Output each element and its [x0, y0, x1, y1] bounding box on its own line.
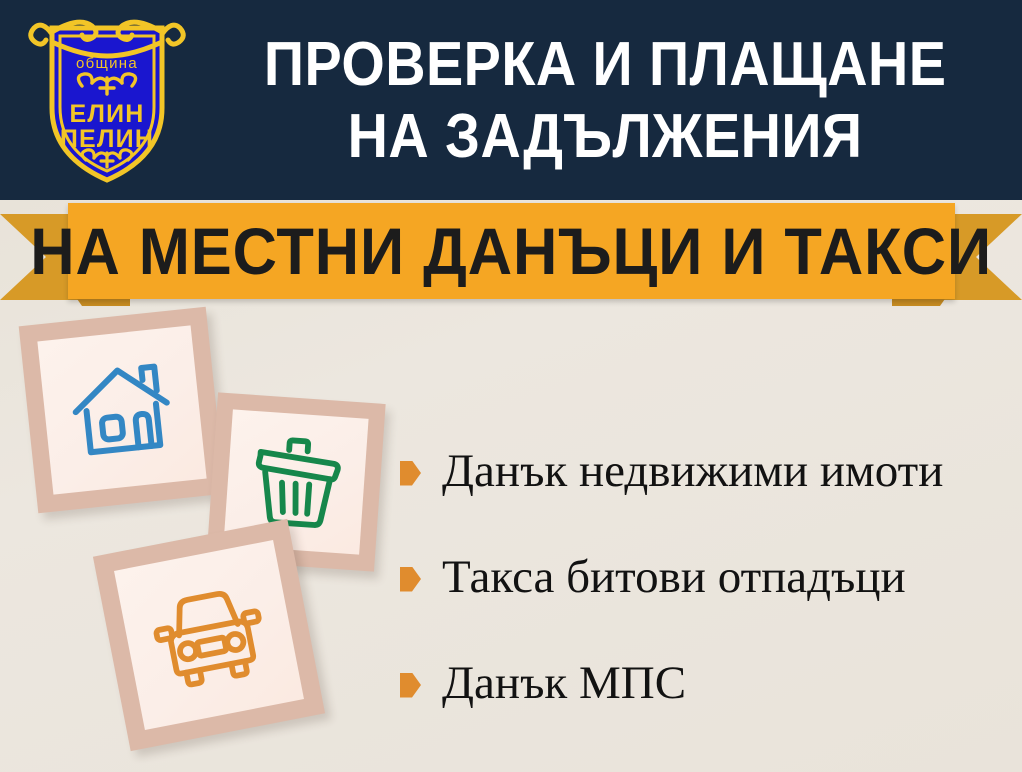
page-title-line-1: ПРОВЕРКА И ПЛАЩАНЕ: [264, 30, 947, 100]
arrow-bullet-icon: [400, 461, 421, 486]
stamp-card-house: [19, 307, 226, 514]
service-item-vehicle-tax[interactable]: Данък МПС: [400, 630, 1012, 736]
svg-text:ПЕЛИН: ПЕЛИН: [60, 125, 154, 153]
arrow-bullet-icon: [400, 673, 421, 698]
house-icon: [19, 307, 226, 514]
stamp-card-car: [93, 519, 325, 751]
service-item-property-tax[interactable]: Данък недвижими имоти: [400, 418, 1012, 524]
page-title-line-2: НА ЗАДЪЛЖЕНИЯ: [348, 102, 863, 172]
stamp-card-group: [0, 300, 400, 772]
service-item-label: Такса битови отпадъци: [442, 551, 906, 603]
ribbon-band: НА МЕСТНИ ДАНЪЦИ И ТАКСИ: [68, 203, 955, 299]
ribbon-label: НА МЕСТНИ ДАНЪЦИ И ТАКСИ: [31, 218, 993, 284]
service-item-waste-fee[interactable]: Такса битови отпадъци: [400, 524, 1012, 630]
service-item-label: Данък недвижими имоти: [442, 445, 943, 497]
svg-text:община: община: [76, 55, 138, 72]
svg-text:ЕЛИН: ЕЛИН: [69, 100, 144, 128]
poster-canvas: община ЕЛИН ПЕЛИН ПРОВЕРКА И П: [0, 0, 1022, 772]
subtitle-ribbon: НА МЕСТНИ ДАНЪЦИ И ТАКСИ: [0, 196, 1022, 308]
service-item-label: Данък МПС: [442, 657, 686, 709]
page-title: ПРОВЕРКА И ПЛАЩАНЕ НА ЗАДЪЛЖЕНИЯ: [196, 18, 1014, 184]
arrow-bullet-icon: [400, 567, 421, 592]
municipality-crest-logo: община ЕЛИН ПЕЛИН: [22, 4, 192, 186]
service-list: Данък недвижими имоти Такса битови отпад…: [400, 418, 1012, 736]
car-front-icon: [93, 519, 325, 751]
